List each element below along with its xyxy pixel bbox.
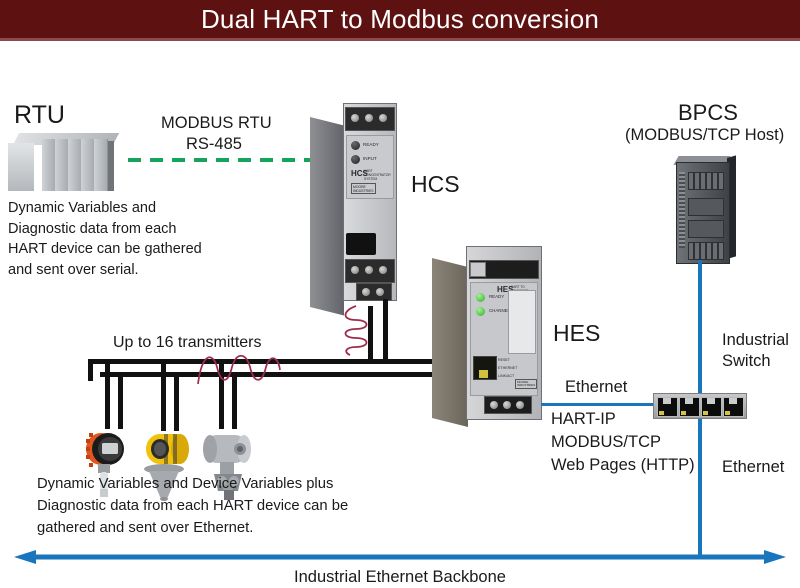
rtu-slot bbox=[68, 139, 82, 191]
industrial-switch-label-line2: Switch bbox=[722, 351, 771, 372]
port-led bbox=[681, 411, 686, 415]
rj45-notch bbox=[729, 398, 737, 404]
hcs-label: HCS bbox=[411, 170, 460, 199]
hcs-brand-label: MOORE INDUSTRIES bbox=[351, 183, 376, 194]
hcs-input-led bbox=[351, 155, 360, 164]
hes-protocol-line1: HART-IP bbox=[551, 409, 616, 430]
hcs-ready-led-label: READY bbox=[363, 142, 379, 147]
ethernet-line-bpcs-to-switch bbox=[698, 260, 702, 405]
hcs-bottom-terminal-block bbox=[345, 259, 395, 283]
hes-housing-side bbox=[432, 258, 468, 427]
terminal-screw bbox=[351, 114, 359, 122]
hcs-input-led-label: INPUT bbox=[363, 156, 377, 161]
hes-rj45-port bbox=[473, 356, 497, 380]
hes-label: HES bbox=[553, 319, 600, 348]
hes-protocol-line3: Web Pages (HTTP) bbox=[551, 455, 695, 476]
modbus-rtu-link-label-line1: MODBUS RTU bbox=[161, 113, 272, 134]
transmitters-note: Up to 16 transmitters bbox=[113, 333, 262, 353]
rj45-notch bbox=[663, 398, 671, 404]
terminal-screw bbox=[362, 288, 370, 296]
hcs-connector-block bbox=[346, 233, 376, 255]
terminal-screw bbox=[503, 401, 511, 409]
terminal-screw bbox=[490, 401, 498, 409]
bpcs-drive-bay bbox=[688, 198, 724, 216]
hes-display-window bbox=[508, 290, 536, 354]
hes-reset-label: RESET bbox=[498, 358, 510, 362]
hes-dip-switch bbox=[470, 262, 486, 277]
terminal-screw bbox=[516, 401, 524, 409]
hart-bus-left-end bbox=[88, 359, 93, 381]
rtu-device bbox=[8, 129, 118, 191]
hcs-device: READY INPUT HCS HART CONCENTRATOR SYSTEM… bbox=[310, 103, 396, 308]
bpcs-drive-bay bbox=[688, 220, 724, 238]
rtu-slot bbox=[81, 139, 95, 191]
switch-port-4 bbox=[723, 397, 744, 417]
hcs-housing-side bbox=[310, 117, 344, 315]
terminal-screw bbox=[379, 114, 387, 122]
industrial-switch bbox=[653, 393, 747, 419]
hcs-model-subtext: HART CONCENTRATOR SYSTEM bbox=[364, 169, 391, 181]
hcs-label-panel: READY INPUT HCS HART CONCENTRATOR SYSTEM… bbox=[346, 135, 394, 199]
bpcs-server bbox=[668, 156, 738, 264]
bpcs-drive-bay bbox=[688, 242, 724, 260]
rj45-latch bbox=[479, 370, 488, 378]
switch-port-2 bbox=[679, 397, 700, 417]
bpcs-drive-bay bbox=[688, 172, 724, 190]
terminal-screw bbox=[379, 266, 387, 274]
port-led bbox=[703, 411, 708, 415]
serial-caption: Dynamic Variables and Diagnostic data fr… bbox=[8, 198, 202, 280]
tx-drop-wire-2a bbox=[161, 363, 166, 431]
bpcs-sublabel: (MODBUS/TCP Host) bbox=[625, 125, 784, 146]
hes-ready-led bbox=[476, 293, 485, 302]
switch-port-3 bbox=[701, 397, 722, 417]
industrial-switch-label-line1: Industrial bbox=[722, 330, 789, 351]
hes-ethernet-label: ETHERNET bbox=[498, 366, 517, 370]
rj45-notch bbox=[707, 398, 715, 404]
hcs-top-terminal-block bbox=[345, 107, 395, 131]
hcs-drop-wire-right bbox=[383, 299, 388, 360]
terminal-screw bbox=[351, 266, 359, 274]
tx-drop-wire-1b bbox=[118, 376, 123, 429]
page-title: Dual HART to Modbus conversion bbox=[0, 4, 800, 35]
industrial-ethernet-backbone-arrow bbox=[14, 550, 786, 564]
terminal-screw bbox=[365, 266, 373, 274]
port-led bbox=[725, 411, 730, 415]
rtu-slot bbox=[94, 139, 108, 191]
rtu-slot bbox=[42, 139, 56, 191]
diagram-canvas: RTU MODBUS RTU RS-485 Dynamic Variables … bbox=[0, 41, 800, 581]
port-led bbox=[659, 411, 664, 415]
rtu-label: RTU bbox=[14, 99, 65, 131]
ethernet-line-switch-to-backbone bbox=[698, 415, 702, 556]
rj45-notch bbox=[685, 398, 693, 404]
tx-drop-wire-1a bbox=[105, 363, 110, 429]
tx-drop-wire-2b bbox=[174, 376, 179, 431]
switch-port-1 bbox=[657, 397, 678, 417]
hcs-ready-led bbox=[351, 141, 360, 150]
terminal-screw bbox=[376, 288, 384, 296]
ethernet-caption: Dynamic Variables and Device Variables p… bbox=[37, 473, 348, 540]
hes-ready-led-label: READY bbox=[489, 294, 504, 299]
hes-linkact-label: LINK/ACT bbox=[498, 374, 514, 378]
hart-signal-coil-vertical bbox=[340, 303, 382, 359]
modbus-rtu-link-label-line2: RS-485 bbox=[186, 134, 242, 155]
rtu-slot bbox=[55, 139, 69, 191]
hes-brand-label: MOORE INDUSTRIES bbox=[515, 379, 537, 389]
hes-bottom-terminal-block bbox=[484, 396, 532, 414]
terminal-screw bbox=[365, 114, 373, 122]
hes-device: READY CHANNEL 1 HES HART TO ETHERNET GAT… bbox=[432, 246, 544, 426]
ethernet-line-hes-to-switch bbox=[541, 403, 656, 406]
hes-channel1-led bbox=[476, 307, 485, 316]
hes-protocol-line2: MODBUS/TCP bbox=[551, 432, 661, 453]
ethernet-switch-label: Ethernet bbox=[722, 457, 784, 478]
backbone-label: Industrial Ethernet Backbone bbox=[0, 567, 800, 588]
ethernet-hes-label: Ethernet bbox=[565, 377, 627, 398]
rtu-power-module bbox=[8, 143, 34, 191]
modbus-rtu-dashed-line bbox=[128, 158, 318, 162]
bpcs-label: BPCS bbox=[678, 99, 738, 127]
bpcs-vent-grille bbox=[679, 172, 685, 248]
